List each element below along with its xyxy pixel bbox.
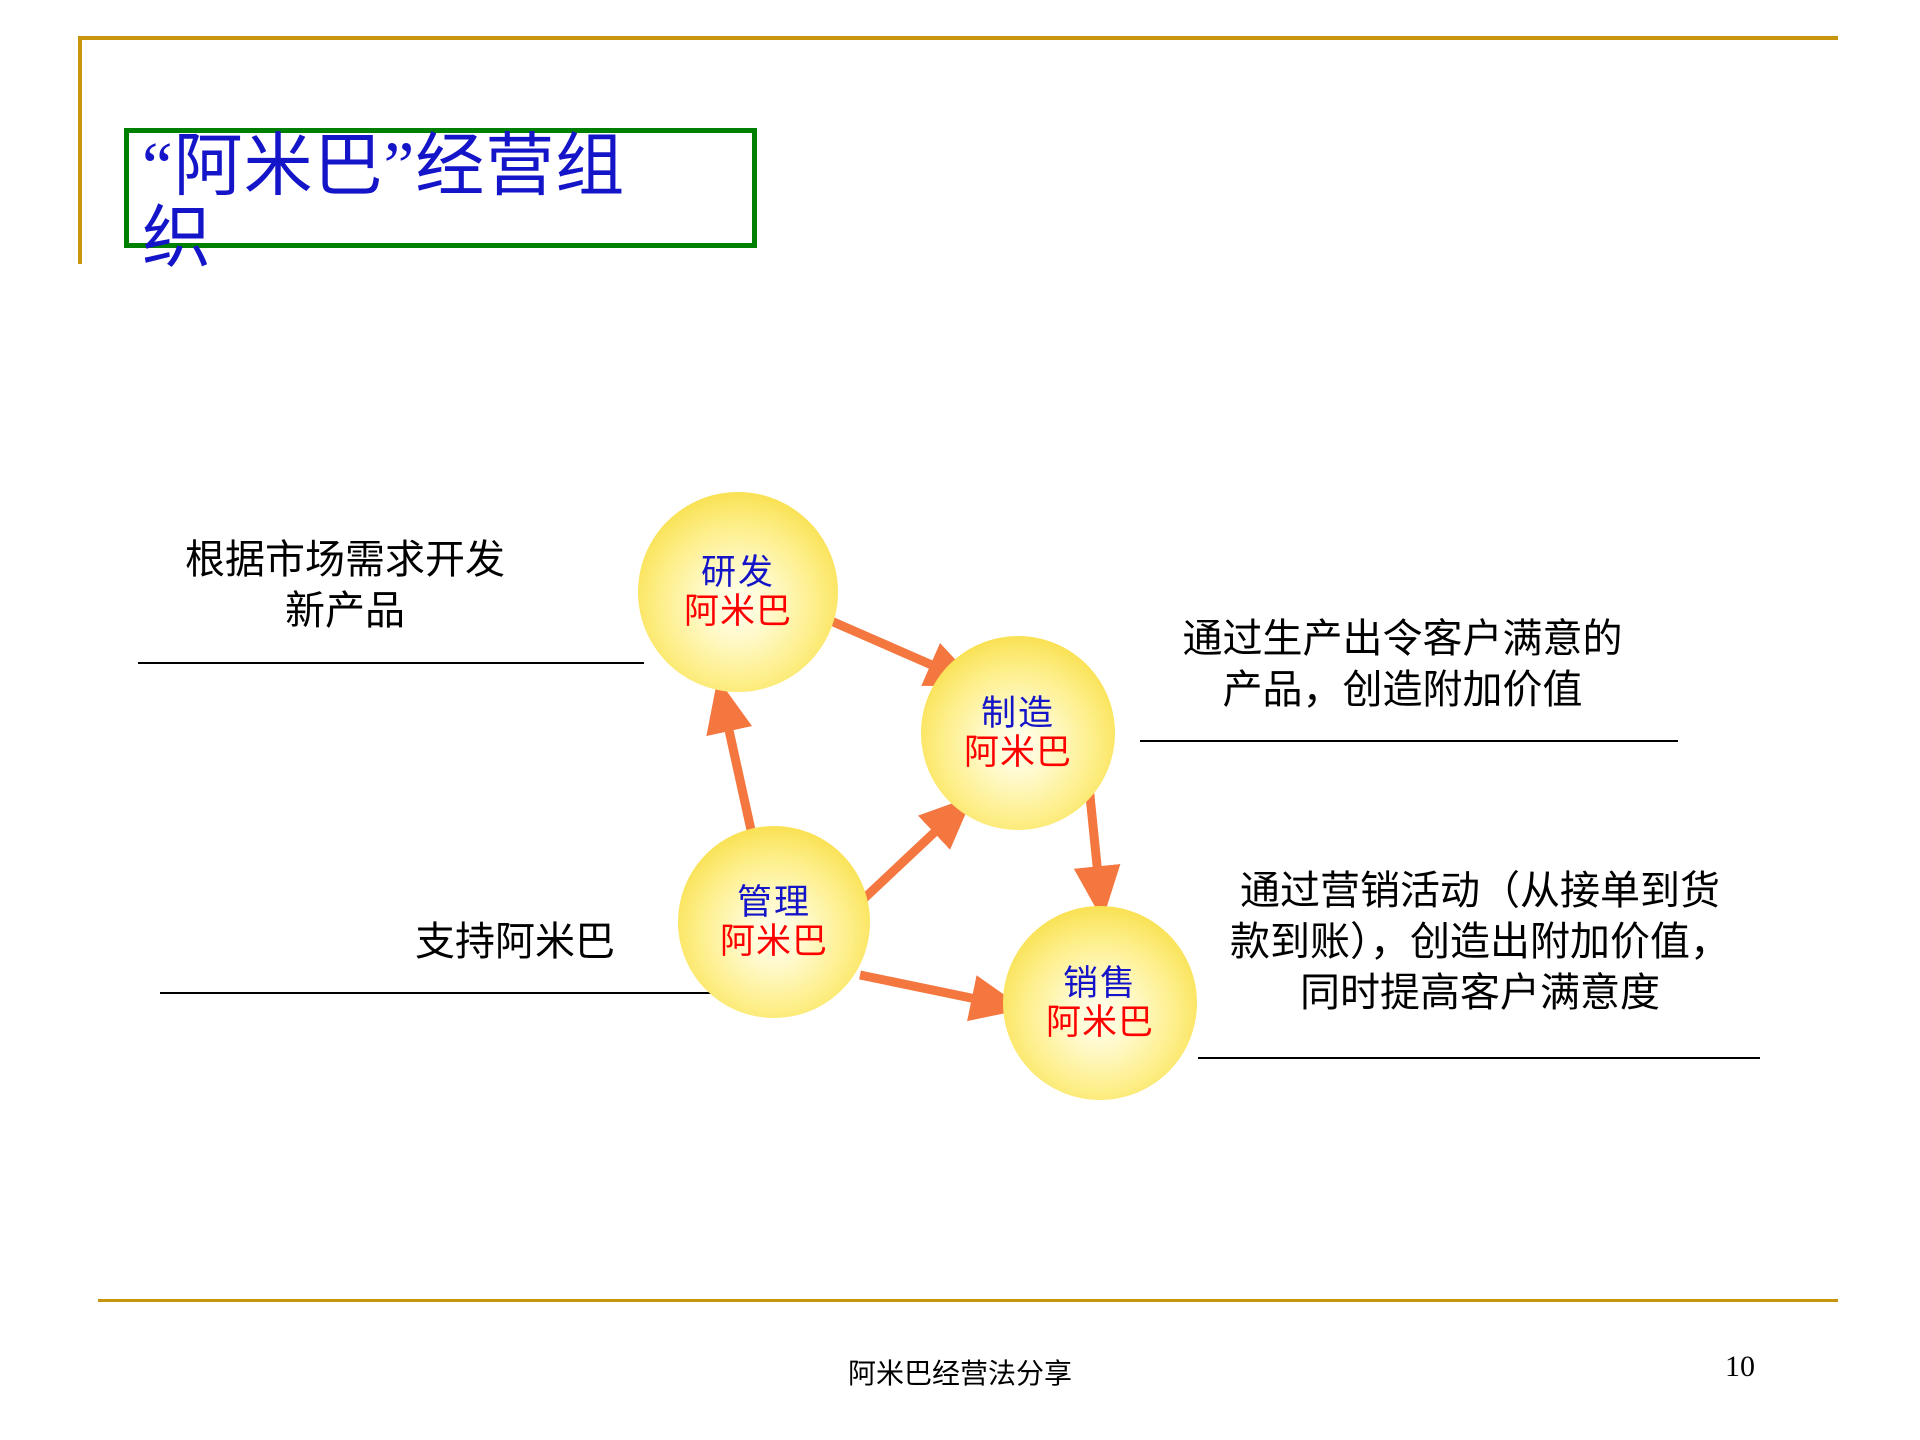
node-title: 管理	[737, 885, 811, 920]
node-subtitle: 阿米巴	[720, 924, 828, 959]
node-title: 销售	[1063, 966, 1137, 1001]
node-subtitle: 阿米巴	[1046, 1005, 1154, 1040]
node-manufacturing[interactable]: 制造 阿米巴	[921, 636, 1115, 830]
arrow-mfg-to-sales	[1089, 786, 1100, 895]
node-research-development[interactable]: 研发 阿米巴	[638, 492, 838, 692]
arrow-mgmt-to-sales	[860, 975, 1000, 1004]
arrow-rd-to-mfg	[822, 617, 957, 676]
node-sales[interactable]: 销售 阿米巴	[1003, 906, 1197, 1100]
arrow-mgmt-to-mfg	[854, 813, 955, 908]
node-subtitle: 阿米巴	[964, 735, 1072, 770]
node-management[interactable]: 管理 阿米巴	[678, 826, 870, 1018]
slide-canvas: “阿米巴”经营组 织 研发 阿米巴 制造 阿米巴 管理 阿米巴 销售 阿米巴	[0, 0, 1920, 1440]
node-title: 制造	[981, 696, 1055, 731]
arrow-mgmt-to-rd	[723, 703, 753, 839]
node-subtitle: 阿米巴	[684, 594, 792, 629]
node-title: 研发	[701, 555, 775, 590]
page-title: “阿米巴”经营组 织	[142, 130, 842, 275]
